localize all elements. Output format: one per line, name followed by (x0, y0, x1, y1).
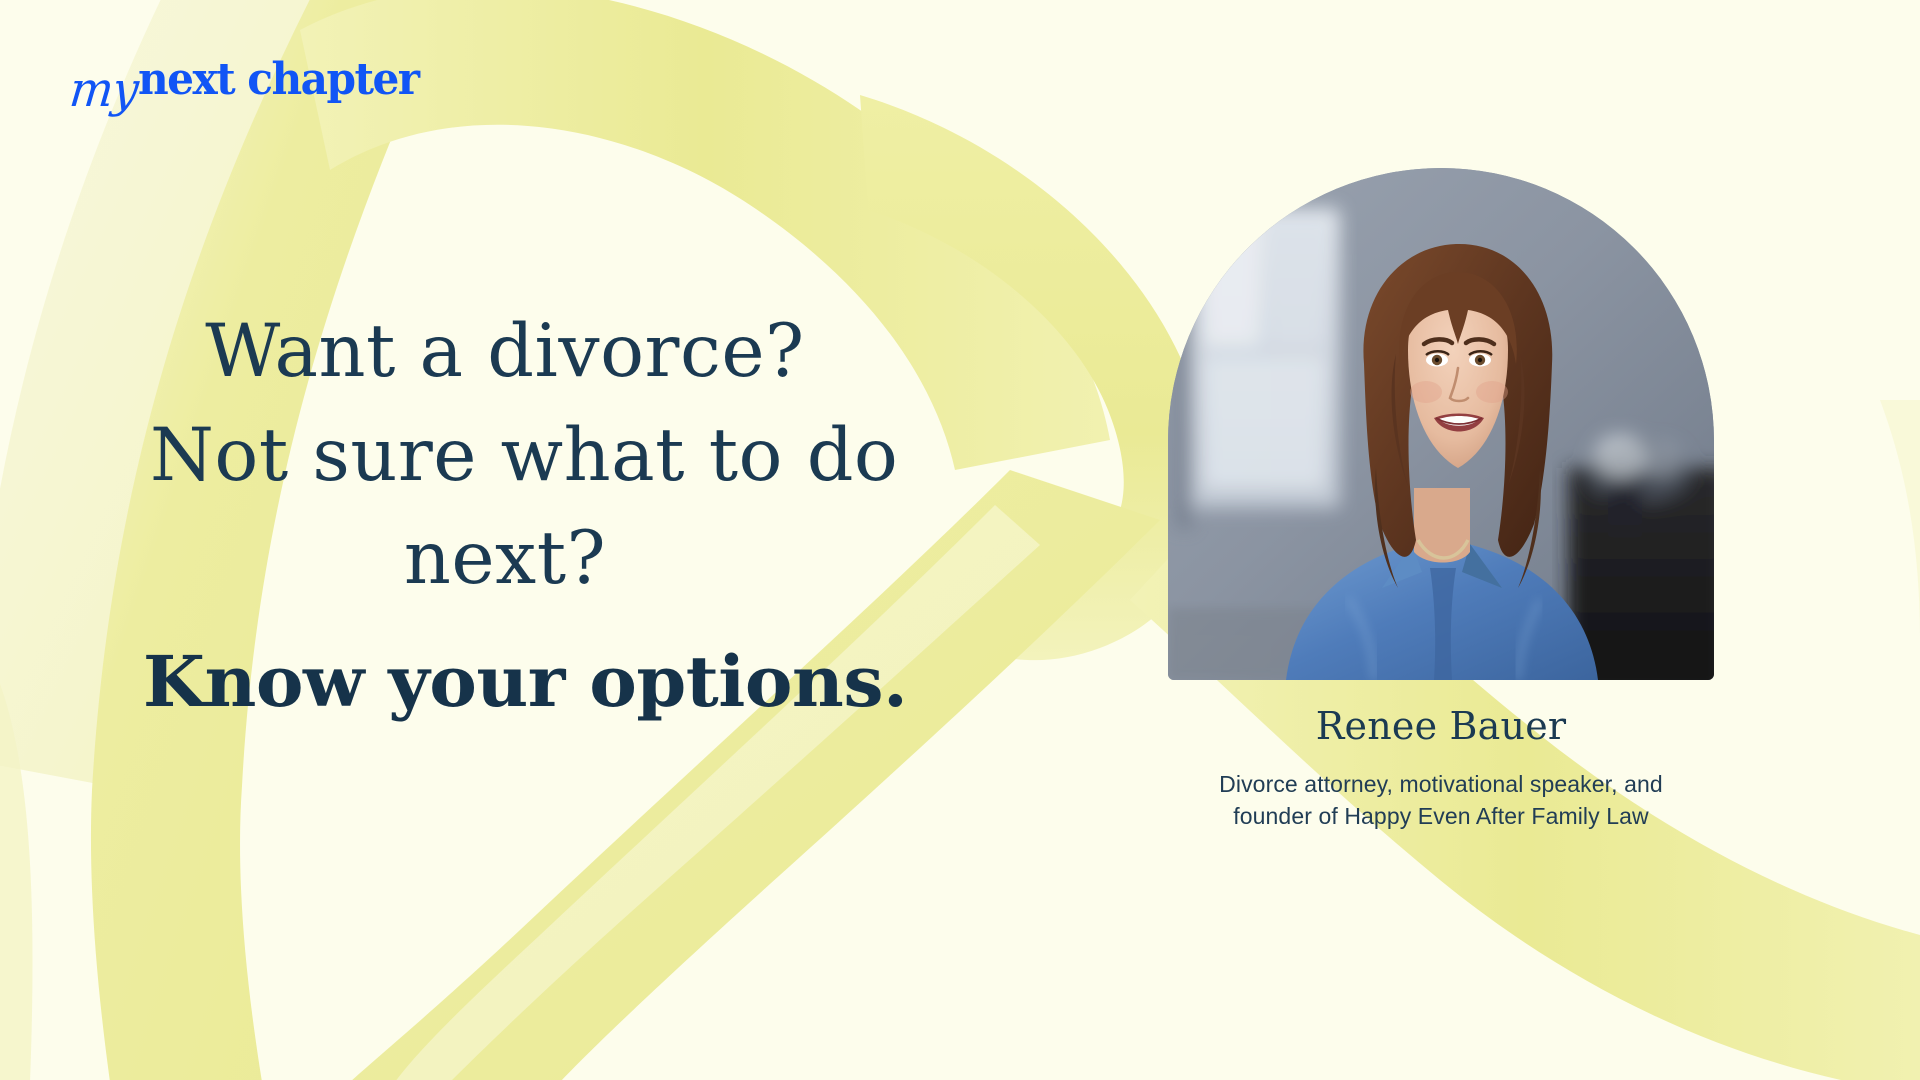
logo-bold-word: next chapter (138, 54, 419, 105)
headline-line-3: next? (150, 507, 860, 611)
speaker-role: Divorce attorney, motivational speaker, … (1168, 768, 1714, 833)
brush-hook-right (860, 95, 1212, 660)
headline-line-2: Not sure what to do (150, 404, 860, 508)
slide-canvas: my next chapter Want a divorce? Not sure… (0, 0, 1920, 1080)
headline-line-1: Want a divorce? (150, 300, 860, 404)
speaker-portrait-image (1168, 168, 1714, 680)
headline-block: Want a divorce? Not sure what to do next… (150, 300, 860, 720)
speaker-photo-frame (1168, 168, 1714, 680)
speaker-card: Renee Bauer Divorce attorney, motivation… (1168, 168, 1714, 833)
headline-emphasis: Know your options. (143, 643, 867, 720)
speaker-role-line-1: Divorce attorney, motivational speaker, … (1168, 768, 1714, 801)
speaker-role-line-2: founder of Happy Even After Family Law (1168, 800, 1714, 833)
brush-wash-bottom-left (0, 620, 33, 1080)
brand-logo[interactable]: my next chapter (70, 52, 490, 132)
speaker-name: Renee Bauer (1168, 706, 1714, 748)
logo-script-word: my (67, 61, 141, 118)
brush-wash-right-edge (1880, 400, 1920, 640)
